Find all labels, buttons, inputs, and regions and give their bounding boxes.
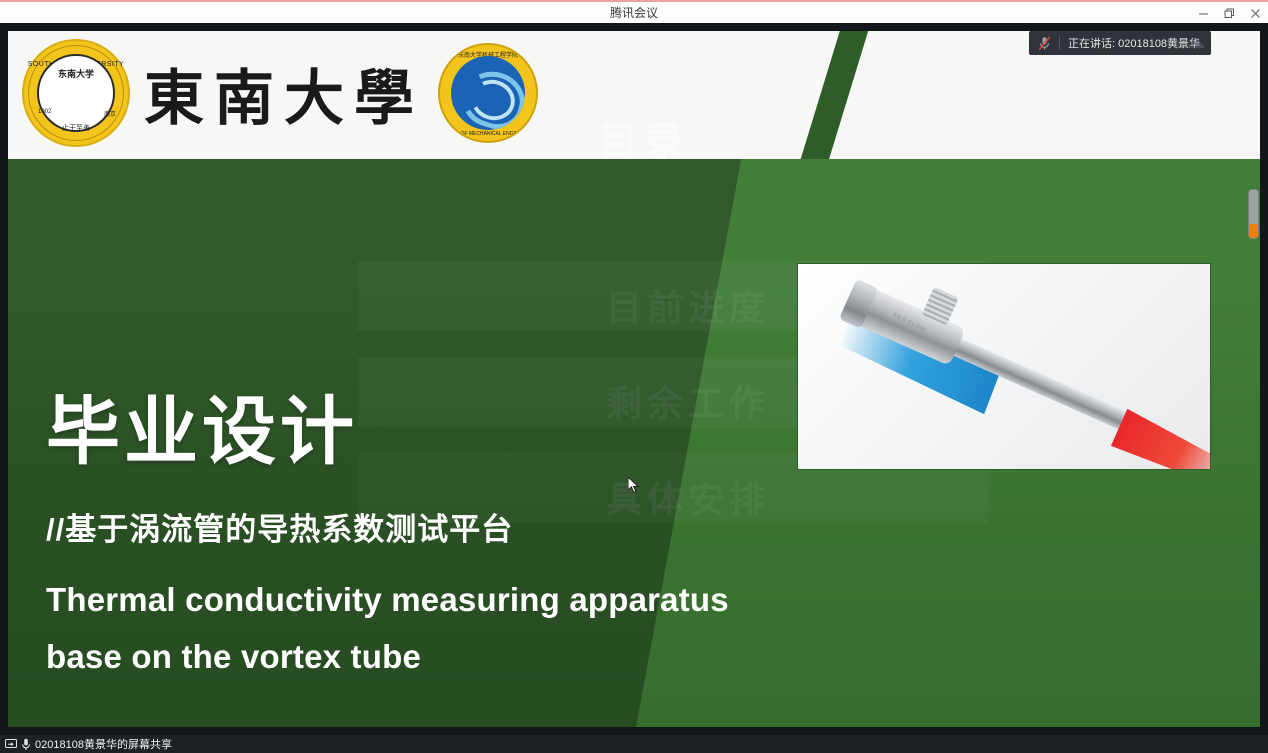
school-of-mechanical-engineering-seal-icon: 东南大学机械工程学院 SCHOOL OF MECHANICAL ENGINEER… [438, 43, 538, 143]
mouse-cursor [628, 477, 640, 495]
seal-motto: 止于至善 [62, 123, 90, 133]
mic-level-fill [1249, 224, 1258, 238]
screen-share-status-label: 02018108黄景华的屏幕共享 [33, 736, 172, 752]
screen-share-status-bar: 02018108黄景华的屏幕共享 [0, 735, 1268, 753]
seal-year: 1902 [38, 109, 51, 115]
slide-body: 目前进度 剩余工作 具体安排 NEX FLOW [8, 159, 1260, 727]
screen-share-icon [3, 735, 18, 753]
microphone-icon [18, 735, 33, 753]
minimize-button[interactable] [1190, 2, 1216, 25]
shared-screen-stage: SOUTHEAST UNIVERSITY 东南大学 1902 南京 止于至善 東… [0, 23, 1268, 735]
pill-drag-handle[interactable] [1169, 31, 1211, 55]
active-speaker-pill[interactable]: 正在讲话: 02018108黄景华 [1029, 31, 1211, 55]
tencent-meeting-window: 腾讯会议 [0, 0, 1268, 753]
slide-subtitle-cn: //基于涡流管的导热系数测试平台 [46, 514, 513, 545]
mic-muted-icon [1029, 31, 1059, 55]
slide-subtitle-en-line2: base on the vortex tube [46, 628, 421, 685]
school-seal-bottom-text: SCHOOL OF MECHANICAL ENGINEERING [438, 131, 538, 137]
seal-city: 南京 [104, 109, 116, 118]
window-title: 腾讯会议 [0, 2, 1268, 25]
slide-subtitle-en-line1: Thermal conductivity measuring apparatus [46, 571, 729, 628]
slide-title-cn: 毕业设计 [46, 395, 358, 469]
vortex-tube-photo: NEX FLOW [797, 263, 1211, 470]
mic-level-meter [1248, 189, 1259, 239]
restore-button[interactable] [1216, 2, 1242, 25]
header-logos: SOUTHEAST UNIVERSITY 东南大学 1902 南京 止于至善 東… [22, 39, 538, 147]
close-button[interactable] [1242, 2, 1268, 25]
section-label-contents: 目录 [598, 109, 690, 159]
seal-center-text: 东南大学 [58, 67, 94, 80]
presentation-slide: SOUTHEAST UNIVERSITY 东南大学 1902 南京 止于至善 東… [8, 31, 1260, 727]
university-calligraphy-wordmark: 東南大學 [144, 50, 424, 137]
southeast-university-seal-icon: SOUTHEAST UNIVERSITY 东南大学 1902 南京 止于至善 [22, 39, 130, 147]
window-controls [1190, 2, 1268, 25]
